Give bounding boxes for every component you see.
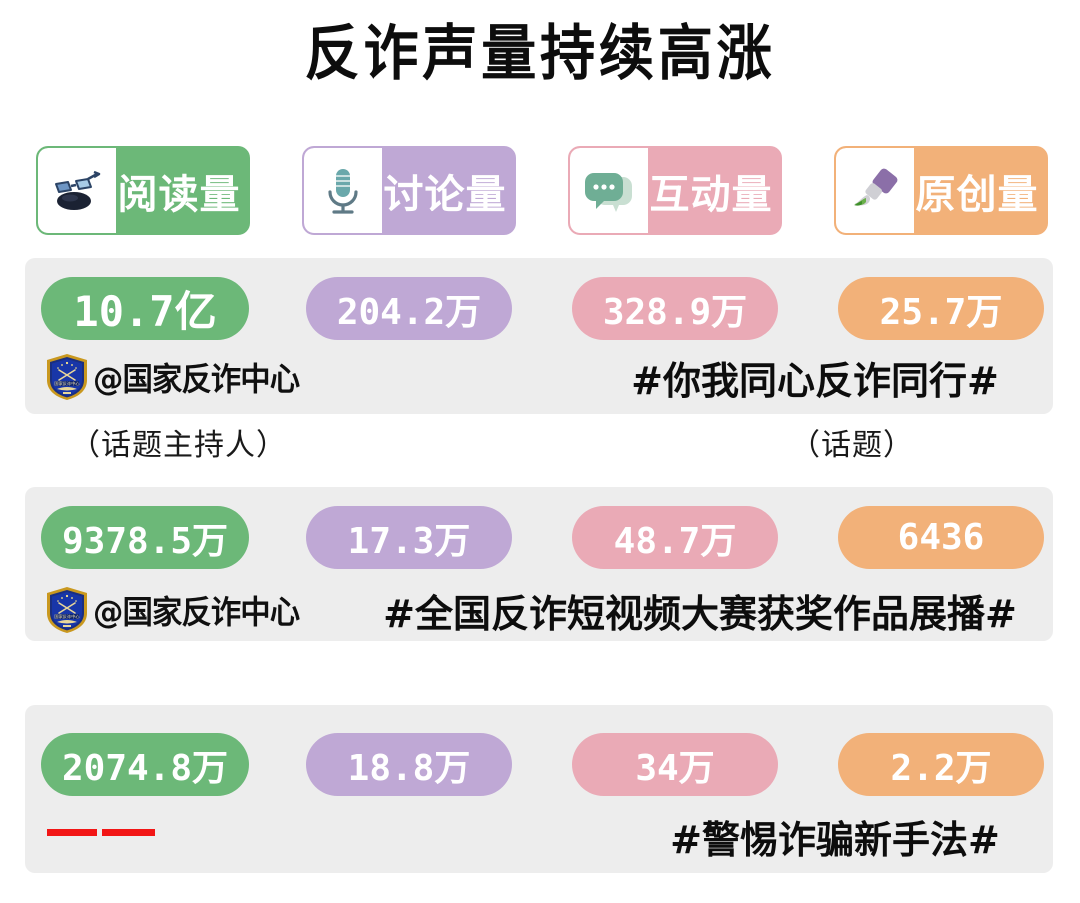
value-pill-discussion: 18.8万 — [306, 733, 512, 796]
police-shield-icon: 国家反诈中心 — [45, 586, 89, 634]
paintbrush-icon — [836, 148, 914, 233]
metrics-row-panel: 2074.8万 18.8万 34万 2.2万 #警惕诈骗新手法# — [25, 705, 1053, 873]
metrics-row-panel: 10.7亿 204.2万 328.9万 25.7万 国家反诈中心 @国家反诈中心 — [25, 258, 1053, 414]
value-pill-original: 6436 — [838, 506, 1044, 569]
metric-badge-label: 讨论量 — [382, 148, 514, 233]
caption-topic-host: （话题主持人） — [70, 420, 287, 464]
value-pill-interaction: 328.9万 — [572, 277, 778, 340]
value-pill-row: 10.7亿 204.2万 328.9万 25.7万 — [25, 277, 1053, 340]
metric-header-row: 阅读量 讨论量 互动量 — [36, 146, 1044, 236]
value-pill-row: 9378.5万 17.3万 48.7万 6436 — [25, 506, 1053, 569]
topic-hashtag[interactable]: #警惕诈骗新手法# — [625, 809, 1045, 863]
account-name: @国家反诈中心 — [93, 354, 299, 400]
microphone-icon — [304, 148, 382, 233]
metric-badge-discussion[interactable]: 讨论量 — [302, 146, 516, 235]
account-name: @国家反诈中心 — [93, 587, 299, 633]
glasses-icon — [38, 148, 116, 233]
row-label-line: 国家反诈中心 @国家反诈中心 #你我同心反诈同行# — [25, 350, 1053, 404]
value-pill-interaction: 48.7万 — [572, 506, 778, 569]
row-label-line: 国家反诈中心 @国家反诈中心 #全国反诈短视频大赛获奖作品展播# — [25, 583, 1053, 637]
metric-badge-original[interactable]: 原创量 — [834, 146, 1048, 235]
value-pill-row: 2074.8万 18.8万 34万 2.2万 — [25, 733, 1053, 796]
account-handle[interactable]: 国家反诈中心 @国家反诈中心 — [45, 350, 310, 404]
value-pill-original: 2.2万 — [838, 733, 1044, 796]
metrics-row-panel: 9378.5万 17.3万 48.7万 6436 国家反诈中心 @国家反诈中心 — [25, 487, 1053, 641]
svg-text:国家反诈中心: 国家反诈中心 — [54, 380, 80, 387]
empty-account-dash — [47, 829, 155, 836]
topic-hashtag[interactable]: #你我同心反诈同行# — [585, 350, 1045, 404]
row-label-line: #警惕诈骗新手法# — [25, 809, 1053, 863]
value-pill-discussion: 204.2万 — [306, 277, 512, 340]
value-pill-interaction: 34万 — [572, 733, 778, 796]
speech-bubble-icon — [570, 148, 648, 233]
metric-badge-reading[interactable]: 阅读量 — [36, 146, 250, 235]
page-title: 反诈声量持续高涨 — [43, 18, 1037, 90]
caption-topic-label: （话题） — [790, 420, 914, 464]
value-pill-original: 25.7万 — [838, 277, 1044, 340]
value-pill-reading: 10.7亿 — [41, 277, 249, 340]
value-pill-reading: 9378.5万 — [41, 506, 249, 569]
value-pill-discussion: 17.3万 — [306, 506, 512, 569]
metric-badge-label: 原创量 — [914, 148, 1046, 233]
metric-badge-label: 互动量 — [648, 148, 780, 233]
account-handle[interactable]: 国家反诈中心 @国家反诈中心 — [45, 583, 310, 637]
svg-text:国家反诈中心: 国家反诈中心 — [54, 613, 80, 620]
topic-hashtag[interactable]: #全国反诈短视频大赛获奖作品展播# — [355, 583, 1045, 637]
metric-badge-label: 阅读量 — [116, 148, 248, 233]
police-shield-icon: 国家反诈中心 — [45, 353, 89, 401]
metric-badge-interaction[interactable]: 互动量 — [568, 146, 782, 235]
value-pill-reading: 2074.8万 — [41, 733, 249, 796]
